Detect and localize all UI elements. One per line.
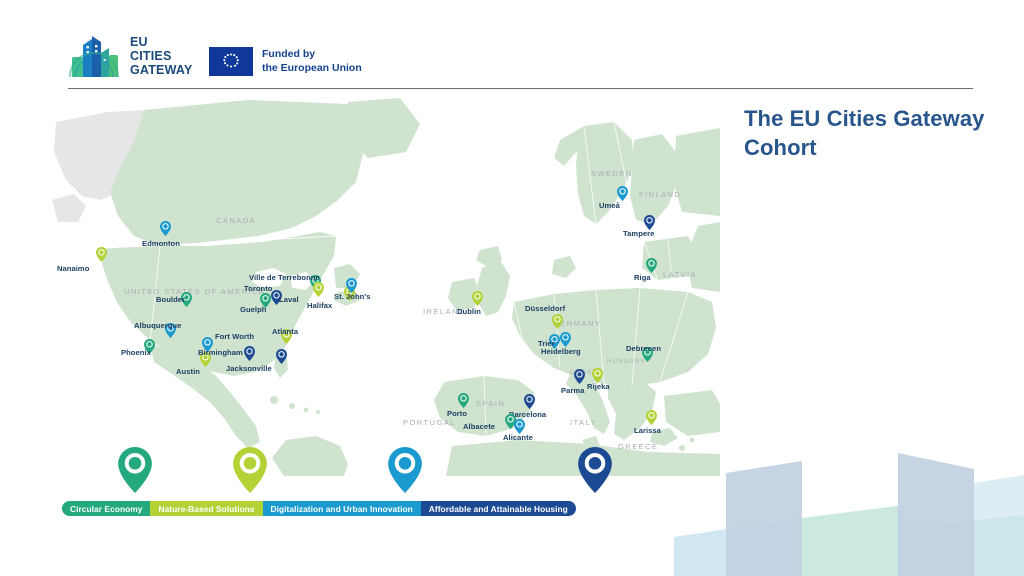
city-label: Guelph (240, 305, 266, 314)
map-pin-icon (574, 369, 585, 384)
map-landmass-graphic (48, 96, 720, 476)
eu-funding-line-2: the European Union (262, 62, 362, 75)
country-label: CANADA (216, 216, 256, 225)
map-pin-icon (524, 394, 535, 409)
city-label: St. John's (334, 292, 370, 301)
map-pin-icon (313, 282, 324, 297)
map-pin-icon (560, 332, 571, 347)
eu-funding-line-1: Funded by (262, 48, 362, 61)
logo-wordmark: EU CITIES GATEWAY (130, 35, 193, 77)
city-pin-birmingham[interactable] (244, 346, 255, 361)
skyline-decoration (674, 431, 1024, 576)
map-pin-icon (276, 349, 287, 364)
legend-pin-row (48, 447, 688, 495)
city-pin-st-john-s[interactable] (346, 278, 357, 293)
city-label: Albacete (463, 422, 495, 431)
country-label: FINLAND (639, 190, 681, 199)
map-pin-icon (233, 447, 267, 493)
eu-cities-gateway-logo: EU CITIES GATEWAY (68, 33, 193, 79)
country-label: ITALY (570, 418, 597, 427)
city-pin-alicante[interactable] (514, 419, 525, 434)
city-label: Riga (634, 273, 651, 282)
header-divider (68, 88, 973, 89)
eu-funding-block: Funded by the European Union (209, 47, 362, 76)
city-label: Laval (279, 295, 299, 304)
legend-pin-housing (578, 447, 612, 493)
city-label: Edmonton (142, 239, 180, 248)
city-label: Phoenix (121, 348, 151, 357)
legend-item-nature-based[interactable]: Nature-Based Solutions (150, 501, 262, 516)
city-label: Ville de Terrebonne (249, 273, 320, 282)
city-label: Fort Worth (215, 332, 254, 341)
slide-root: EU CITIES GATEWAY (0, 0, 1024, 576)
legend-item-circular-economy[interactable]: Circular Economy (62, 501, 150, 516)
city-label: Parma (561, 386, 584, 395)
city-pin-heidelberg[interactable] (560, 332, 571, 347)
city-label: Düsseldorf (525, 304, 565, 313)
city-pin-tampere[interactable] (644, 215, 655, 230)
country-label: HUNGARY (607, 358, 646, 365)
city-label: Heidelberg (541, 347, 581, 356)
legend-pin-nature-based (233, 447, 267, 493)
city-pin-porto[interactable] (458, 393, 469, 408)
city-label: Toronto (244, 284, 272, 293)
city-label: Birmingham (198, 348, 243, 357)
country-label: LATVIA (663, 270, 697, 279)
logo-buildings-icon (68, 33, 120, 79)
city-label: Alicante (503, 433, 533, 442)
header: EU CITIES GATEWAY (0, 0, 1024, 95)
map-pin-icon (552, 314, 563, 329)
map-pin-icon (346, 278, 357, 293)
city-pin-parma[interactable] (574, 369, 585, 384)
map-pin-icon (118, 447, 152, 493)
city-pin-edmonton[interactable] (160, 221, 171, 236)
map-pin-icon (388, 447, 422, 493)
city-label: Dublin (457, 307, 481, 316)
city-label: Austin (176, 367, 200, 376)
city-pin-jacksonville[interactable] (276, 349, 287, 364)
city-label: Atlanta (272, 327, 298, 336)
map-pin-icon (96, 247, 107, 262)
city-pin-barcelona[interactable] (524, 394, 535, 409)
city-label: Rijeka (587, 382, 610, 391)
eu-funding-text: Funded by the European Union (262, 48, 362, 74)
city-pin-nanaimo[interactable] (96, 247, 107, 262)
page-title: The EU Cities Gateway Cohort (744, 104, 994, 162)
city-pin-larissa[interactable] (646, 410, 657, 425)
city-label: Nanaimo (57, 264, 89, 273)
map-pin-icon (458, 393, 469, 408)
category-legend: Circular EconomyNature-Based SolutionsDi… (62, 501, 576, 516)
city-label: Jacksonville (226, 364, 272, 373)
logo-line-1: EU (130, 35, 193, 49)
country-label: PORTUGAL (403, 418, 456, 427)
world-map: CANADAUNITED STATES OF AMERICASWEDENFINL… (48, 96, 720, 476)
city-label: Debrecen (626, 344, 661, 353)
map-pin-icon (644, 215, 655, 230)
map-pin-icon (472, 291, 483, 306)
map-pin-icon (592, 368, 603, 383)
city-label: Porto (447, 409, 467, 418)
city-label: Larissa (634, 426, 661, 435)
map-pin-icon (160, 221, 171, 236)
eu-flag-icon (209, 47, 253, 76)
map-pin-icon (578, 447, 612, 493)
country-label: SWEDEN (591, 169, 633, 178)
city-pin-toronto[interactable] (313, 282, 324, 297)
logo-line-2: CITIES (130, 49, 193, 63)
city-label: Boulder (156, 295, 185, 304)
map-pin-icon (244, 346, 255, 361)
logo-line-3: GATEWAY (130, 63, 193, 77)
city-pin-ume-[interactable] (617, 186, 628, 201)
city-pin-dublin[interactable] (472, 291, 483, 306)
map-pin-icon (646, 410, 657, 425)
legend-pin-circular-economy (118, 447, 152, 493)
legend-pin-digitalization (388, 447, 422, 493)
city-pin-riga[interactable] (646, 258, 657, 273)
map-pin-icon (617, 186, 628, 201)
skyline-shapes-icon (674, 431, 1024, 576)
city-label: Halifax (307, 301, 332, 310)
city-label: Umeå (599, 201, 620, 210)
city-label: Tampere (623, 229, 654, 238)
legend-item-digitalization[interactable]: Digitalization and Urban Innovation (263, 501, 421, 516)
legend-item-housing[interactable]: Affordable and Attainable Housing (421, 501, 576, 516)
city-pin-d-sseldorf[interactable] (552, 314, 563, 329)
city-label: Albuquerque (134, 321, 181, 330)
city-pin-rijeka[interactable] (592, 368, 603, 383)
map-pin-icon (646, 258, 657, 273)
map-pin-icon (514, 419, 525, 434)
country-label: SPAIN (476, 399, 505, 408)
